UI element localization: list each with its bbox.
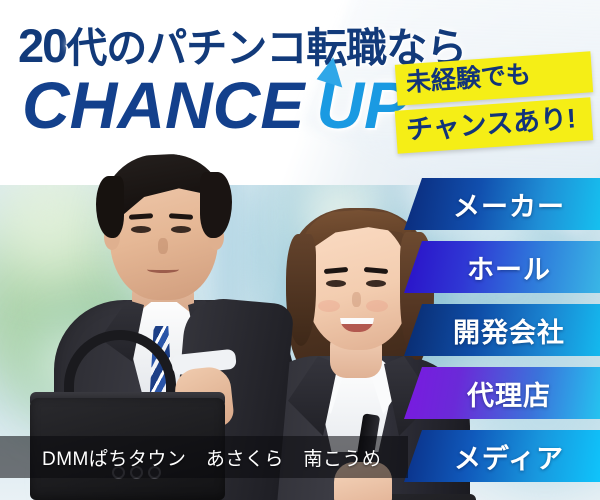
- logo-word-chance: CHANCE: [22, 68, 304, 142]
- menu-item-label: 開発会社: [439, 311, 565, 350]
- businessman-eye-left: [131, 226, 151, 233]
- menu-item-agency[interactable]: 代理店: [404, 367, 600, 419]
- category-menu: メーカー ホール 開発会社 代理店 メディア: [404, 178, 600, 493]
- logo-word-up: UP: [316, 68, 408, 142]
- businessman-hair-side-right: [200, 172, 232, 238]
- menu-item-label: メーカー: [439, 185, 565, 224]
- menu-item-hall[interactable]: ホール: [404, 241, 600, 293]
- businesswoman-teeth: [340, 318, 374, 324]
- badge-line-2: チャンスあり!: [395, 97, 594, 154]
- menu-item-label: ホール: [453, 248, 551, 287]
- businessman-mouth: [147, 266, 179, 273]
- businesswoman-eye-right: [366, 280, 386, 287]
- businessman-nose: [158, 238, 168, 254]
- menu-item-label: メディア: [440, 437, 564, 476]
- advertisement-banner[interactable]: 20代のパチンコ転職なら CHANCEUP 未経験でも チャンスあり! メーカー…: [0, 0, 600, 500]
- chance-up-logo: CHANCEUP: [22, 72, 408, 138]
- businesswoman-cheek-left: [318, 300, 340, 312]
- businessman-eye-right: [171, 226, 191, 233]
- businesswoman-eye-left: [326, 280, 346, 287]
- menu-item-development-company[interactable]: 開発会社: [404, 304, 600, 356]
- yellow-badge: 未経験でも チャンスあり!: [396, 58, 592, 147]
- businessman-hair-side-left: [96, 176, 124, 238]
- menu-item-media[interactable]: メディア: [404, 430, 600, 482]
- badge-line-1: 未経験でも: [395, 51, 593, 106]
- businesswoman-cheek-right: [366, 300, 388, 312]
- businesswoman-nose: [352, 292, 361, 307]
- caption-bar: DMMぱちタウン あさくら 南こうめ: [0, 436, 408, 478]
- menu-item-maker[interactable]: メーカー: [404, 178, 600, 230]
- menu-item-label: 代理店: [453, 374, 551, 413]
- headline-number: 20: [18, 19, 66, 72]
- caption-text: DMMぱちタウン あさくら 南こうめ: [0, 444, 381, 471]
